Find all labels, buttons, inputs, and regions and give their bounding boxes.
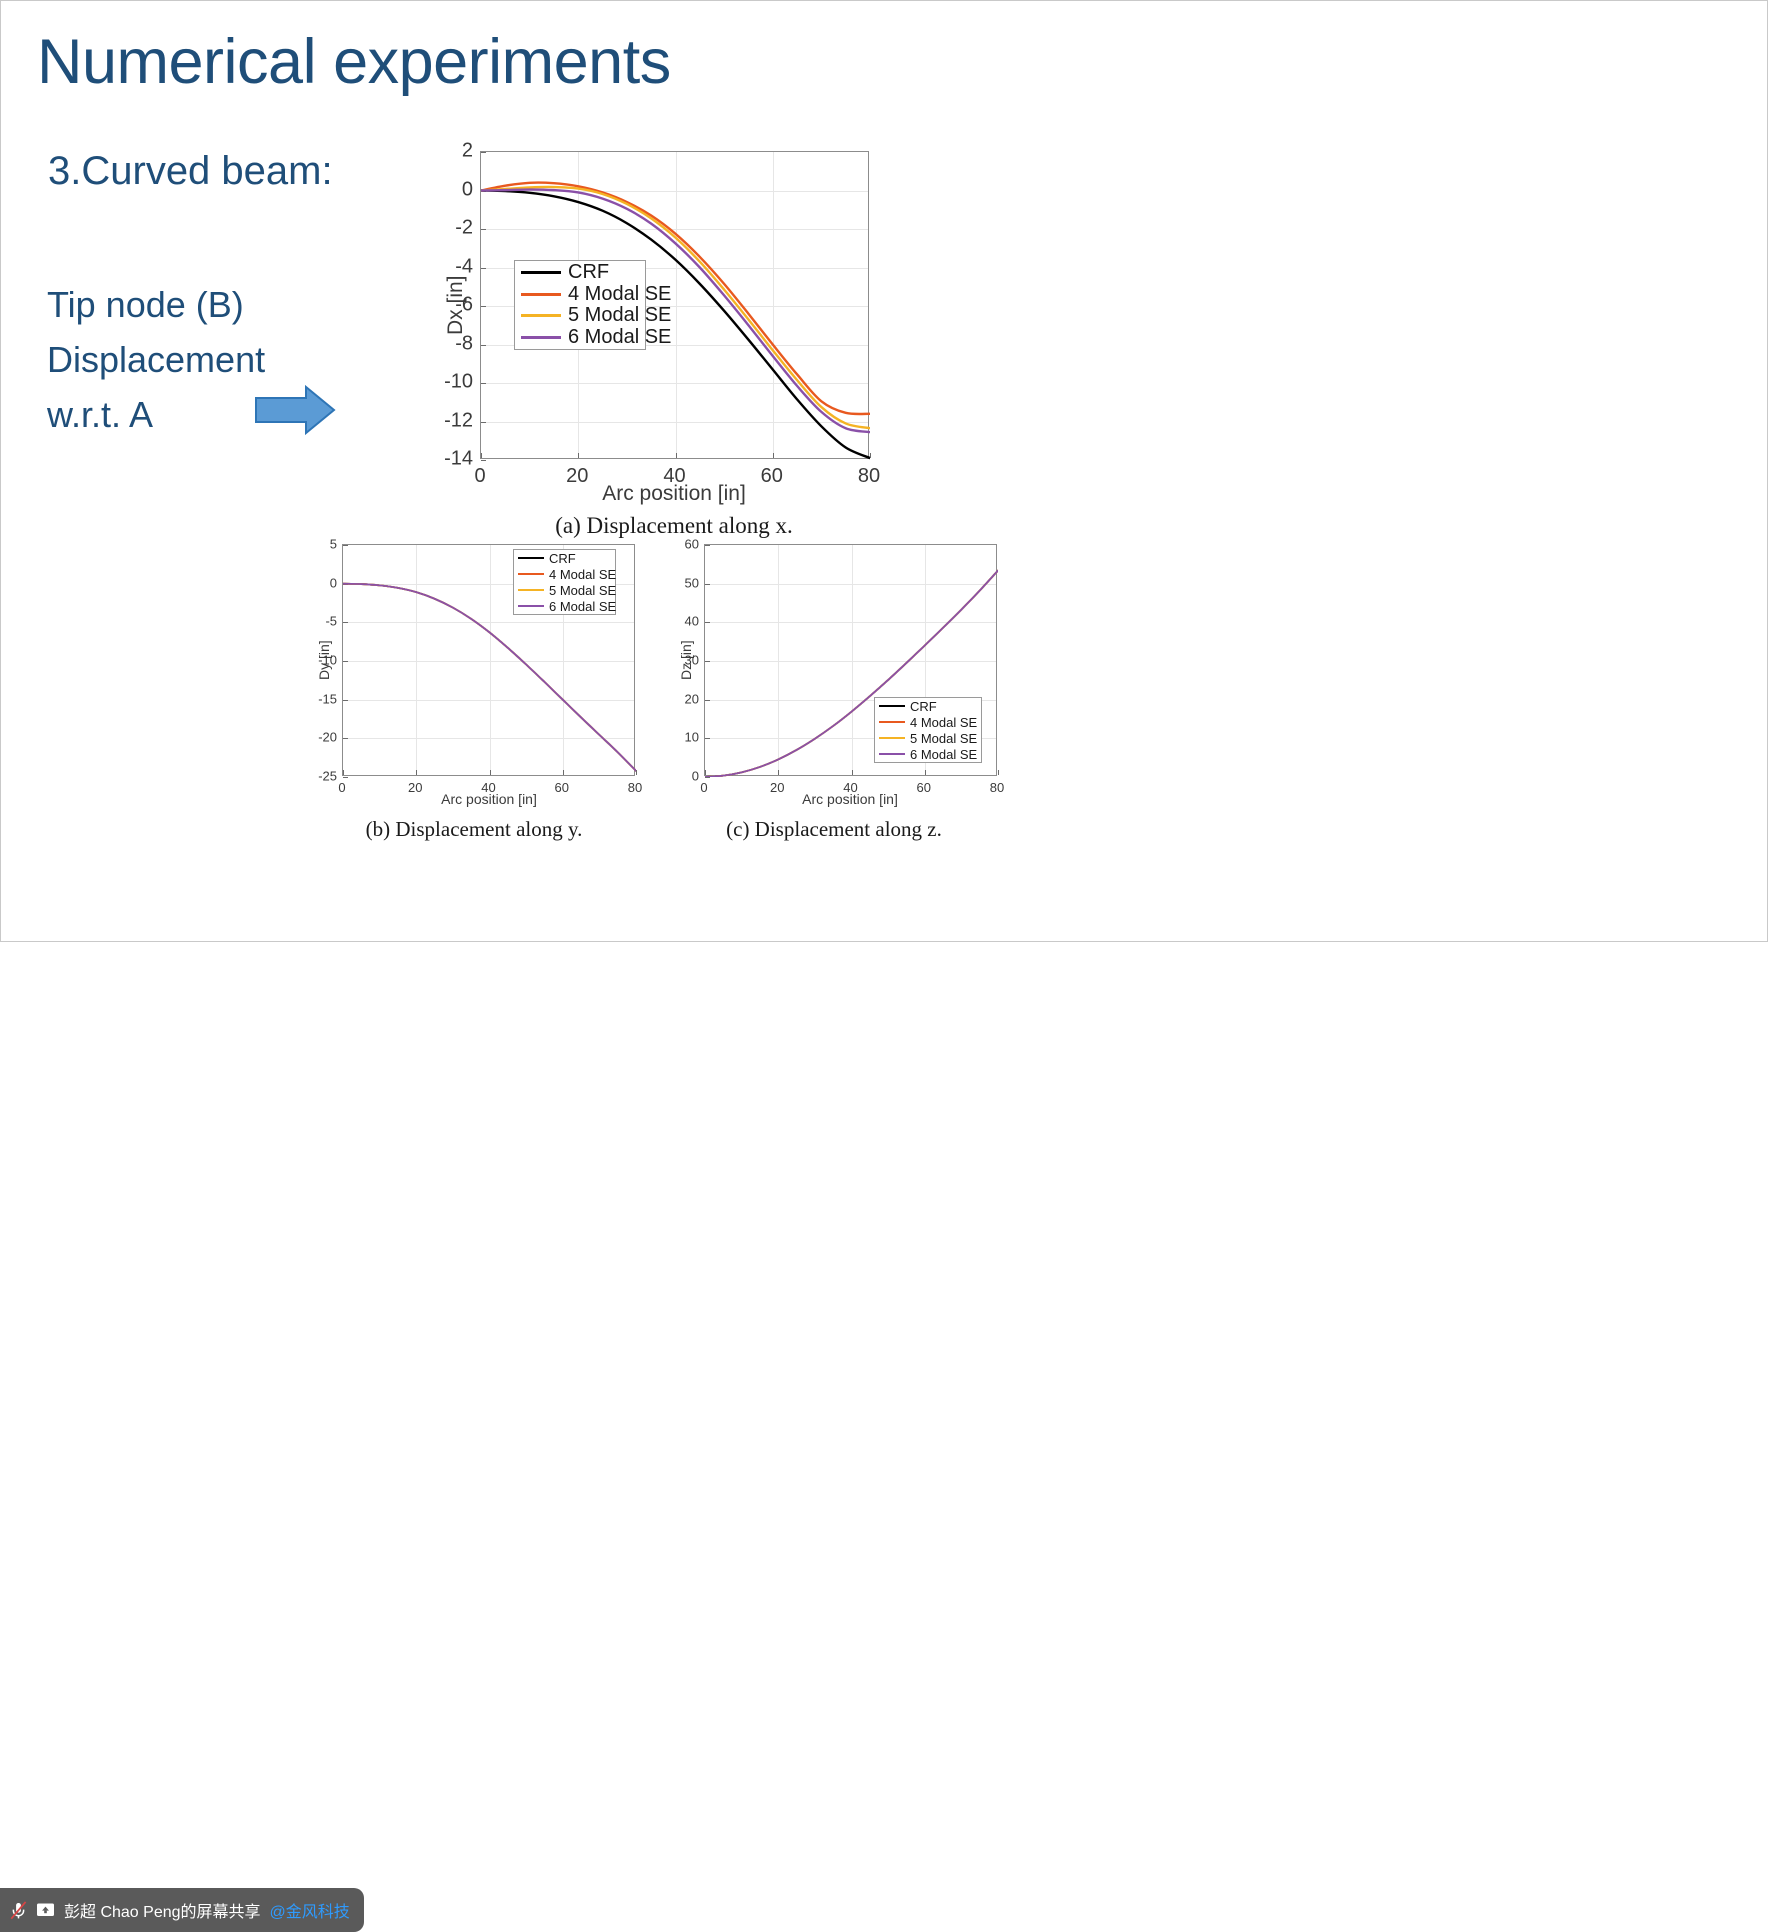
legend-item: 5 Modal SE [875, 730, 981, 746]
tick-x [870, 453, 871, 458]
legend-label: 5 Modal SE [910, 731, 977, 746]
legend-swatch [879, 705, 905, 707]
legend-item: 5 Modal SE [515, 305, 645, 327]
share-company-text: @金风科技 [270, 1898, 350, 1922]
legend-label: 5 Modal SE [568, 304, 671, 327]
tick-label-y: -14 [433, 448, 473, 471]
legend-item: 5 Modal SE [514, 582, 615, 598]
tick-label-y: 50 [673, 575, 699, 590]
legend-label: 6 Modal SE [910, 747, 977, 762]
legend-swatch [521, 314, 561, 317]
tick-y [481, 460, 486, 461]
tick-label-y: 0 [673, 769, 699, 784]
tick-x [636, 770, 637, 775]
tick-label-y: 60 [673, 537, 699, 552]
figure-displacement-plots: 02040608020-2-4-6-8-10-12-14Dx [in]Arc p… [1, 1, 1768, 943]
legend-swatch [521, 293, 561, 296]
share-owner-text: 彭超 Chao Peng的屏幕共享 [64, 1898, 261, 1922]
legend-item: CRF [514, 550, 615, 566]
tick-label-y: 40 [673, 614, 699, 629]
legend-swatch [521, 336, 561, 339]
scroll-corner [1752, 942, 1768, 996]
figure-caption-b: (b) Displacement along y. [366, 817, 583, 842]
figure-caption-c: (c) Displacement along z. [726, 817, 942, 842]
tick-label-x: 80 [858, 465, 880, 488]
legend-swatch [518, 557, 544, 559]
legend-label: CRF [549, 551, 576, 566]
axis-title-y-a: Dx [in] [444, 275, 468, 335]
tick-label-y: -5 [311, 614, 337, 629]
legend-c: CRF4 Modal SE5 Modal SE6 Modal SE [874, 697, 982, 763]
tick-label-y: 0 [311, 575, 337, 590]
legend-label: 4 Modal SE [910, 715, 977, 730]
tick-label-x: 80 [990, 780, 1004, 795]
tick-label-y: 0 [433, 178, 473, 201]
tick-label-y: -2 [433, 217, 473, 240]
tick-label-y: -10 [433, 371, 473, 394]
legend-swatch [521, 271, 561, 274]
tick-label-x: 0 [474, 465, 485, 488]
tick-label-y: -8 [433, 332, 473, 355]
legend-b: CRF4 Modal SE5 Modal SE6 Modal SE [513, 549, 616, 615]
legend-swatch [879, 721, 905, 723]
tick-label-y: -25 [311, 769, 337, 784]
legend-swatch [518, 589, 544, 591]
legend-item: 4 Modal SE [875, 714, 981, 730]
legend-item: 4 Modal SE [515, 284, 645, 306]
legend-label: 4 Modal SE [568, 283, 671, 306]
legend-label: CRF [910, 699, 937, 714]
microphone-muted-icon[interactable] [10, 1901, 27, 1920]
tick-label-x: 20 [408, 780, 422, 795]
tick-label-x: 20 [566, 465, 588, 488]
tick-label-x: 20 [770, 780, 784, 795]
tick-label-x: 0 [700, 780, 707, 795]
legend-item: 6 Modal SE [515, 327, 645, 349]
tick-label-y: 5 [311, 537, 337, 552]
axis-title-x-a: Arc position [in] [602, 482, 746, 506]
tick-label-y: -20 [311, 730, 337, 745]
tick-label-y: -15 [311, 691, 337, 706]
legend-label: CRF [568, 261, 609, 284]
legend-item: 6 Modal SE [514, 598, 615, 614]
tick-label-x: 60 [555, 780, 569, 795]
legend-item: CRF [875, 698, 981, 714]
taskbar: 彭超 Chao Peng的屏幕共享 @金风科技 [0, 942, 1768, 996]
tick-y [343, 777, 348, 778]
tick-label-y: 20 [673, 691, 699, 706]
tick-label-x: 0 [338, 780, 345, 795]
tick-label-x: 60 [761, 465, 783, 488]
legend-item: 6 Modal SE [875, 746, 981, 762]
axis-title-y-c: Dz [in] [678, 640, 694, 680]
legend-item: CRF [515, 262, 645, 284]
presentation-slide: Numerical experiments 3.Curved beam: Tip… [0, 0, 1768, 942]
screen-share-icon[interactable] [36, 1902, 55, 1919]
axis-title-x-c: Arc position [in] [802, 791, 898, 807]
tick-y [705, 777, 710, 778]
axis-title-x-b: Arc position [in] [441, 791, 537, 807]
tick-label-x: 60 [917, 780, 931, 795]
legend-swatch [879, 737, 905, 739]
legend-item: 4 Modal SE [514, 566, 615, 582]
tick-label-y: -12 [433, 409, 473, 432]
tick-label-x: 80 [628, 780, 642, 795]
legend-label: 6 Modal SE [549, 599, 616, 614]
tick-label-y: 10 [673, 730, 699, 745]
legend-label: 6 Modal SE [568, 326, 671, 349]
tick-x [998, 770, 999, 775]
legend-swatch [879, 753, 905, 755]
legend-label: 4 Modal SE [549, 567, 616, 582]
figure-caption-a: (a) Displacement along x. [555, 513, 793, 539]
legend-label: 5 Modal SE [549, 583, 616, 598]
tick-label-y: 2 [433, 140, 473, 163]
axis-title-y-b: Dy [in] [316, 640, 332, 680]
legend-a: CRF4 Modal SE5 Modal SE6 Modal SE [514, 260, 646, 350]
legend-swatch [518, 605, 544, 607]
screen-share-status-pill[interactable]: 彭超 Chao Peng的屏幕共享 @金风科技 [0, 1888, 364, 1932]
legend-swatch [518, 573, 544, 575]
